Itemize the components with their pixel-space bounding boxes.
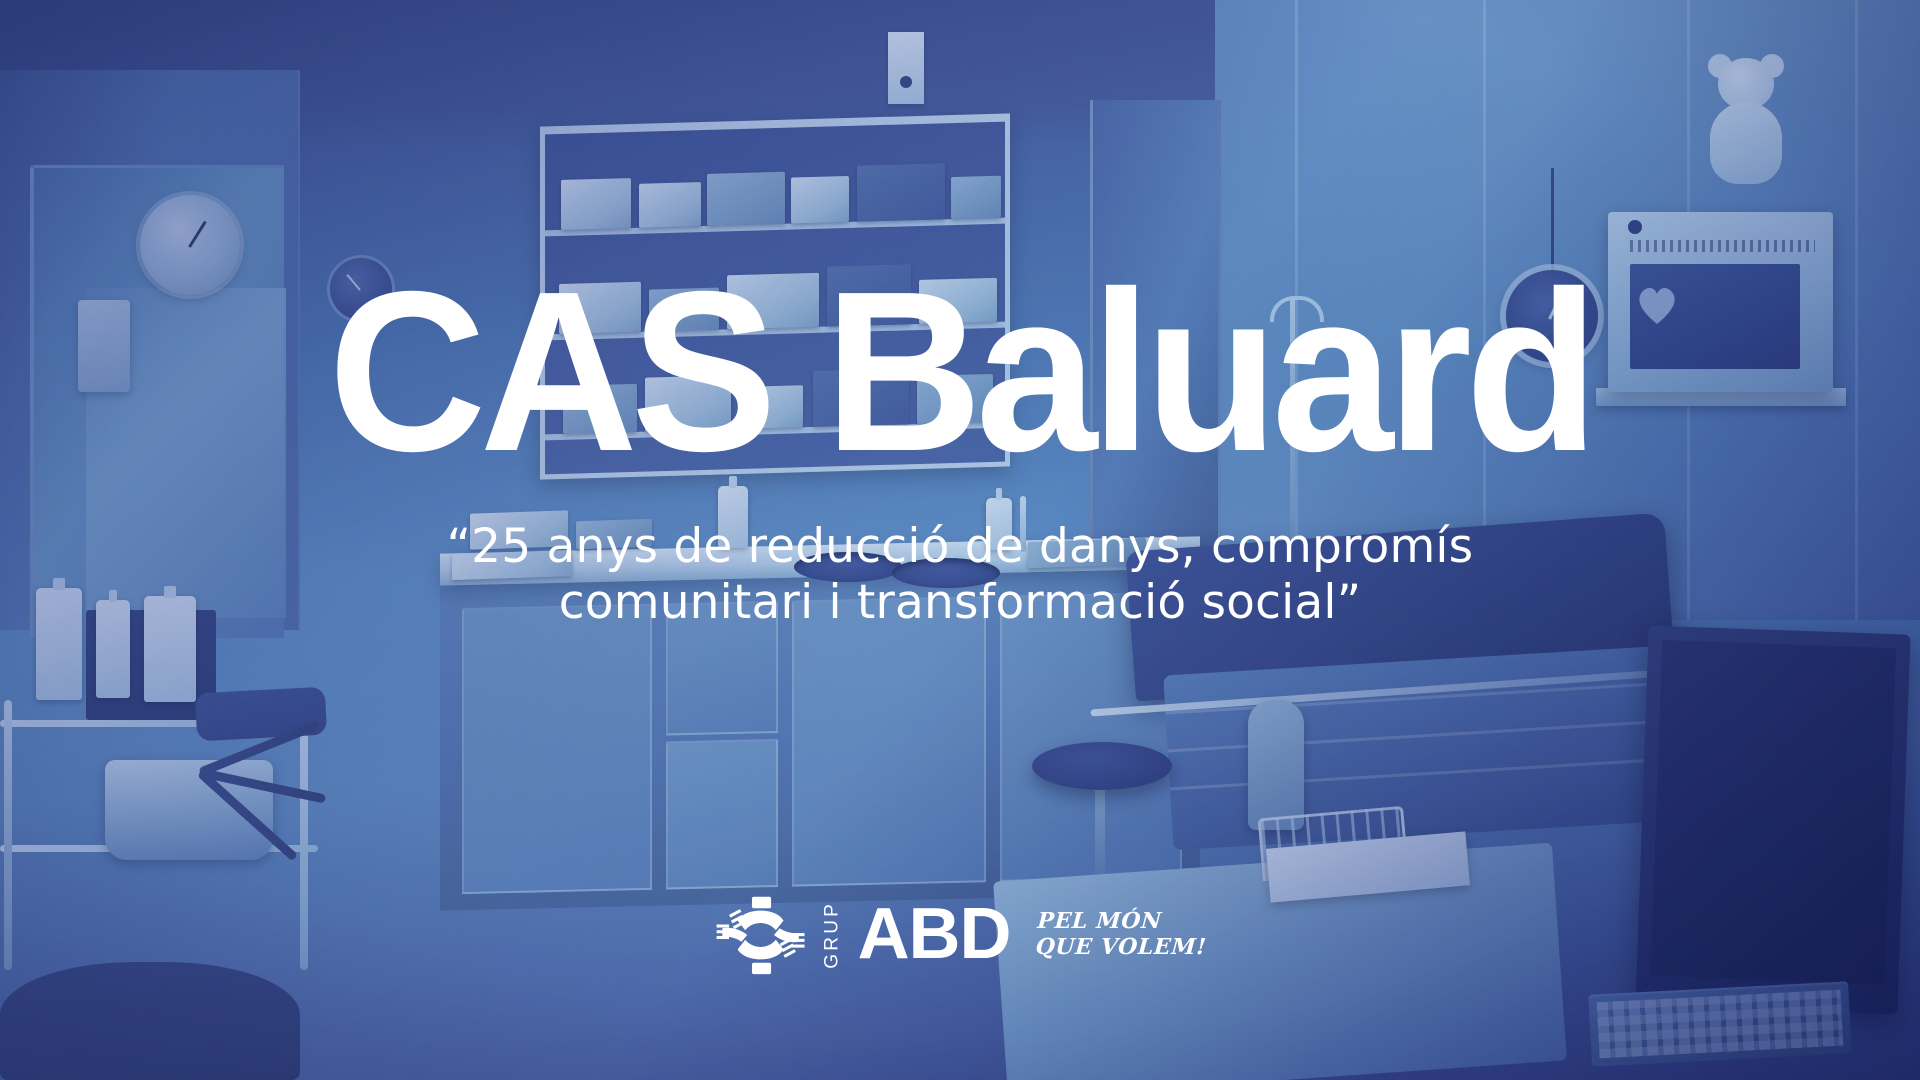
logo-claim-line-1: PEL MÓN <box>1037 909 1210 935</box>
logo-claim: PEL MÓN QUE VOLEM! <box>1035 909 1210 961</box>
logo-brand-text: ABD <box>858 904 1011 966</box>
slide-canvas: CAS Baluard “25 anys de reducció de dany… <box>0 0 1920 1080</box>
abd-hands-circle-icon <box>713 892 809 978</box>
abd-logo: GRUP ABD PEL MÓN QUE VOLEM! <box>713 892 1208 978</box>
subtitle-line-2: comunitari i transformació social” <box>447 575 1474 631</box>
subtitle-line-1: “25 anys de reducció de danys, compromís <box>447 519 1474 575</box>
logo-grup-label: GRUP <box>823 901 842 969</box>
slide-title: CAS Baluard <box>328 272 1592 473</box>
slide-subtitle: “25 anys de reducció de danys, compromís… <box>447 519 1474 632</box>
logo-claim-line-2: QUE VOLEM! <box>1035 935 1208 961</box>
